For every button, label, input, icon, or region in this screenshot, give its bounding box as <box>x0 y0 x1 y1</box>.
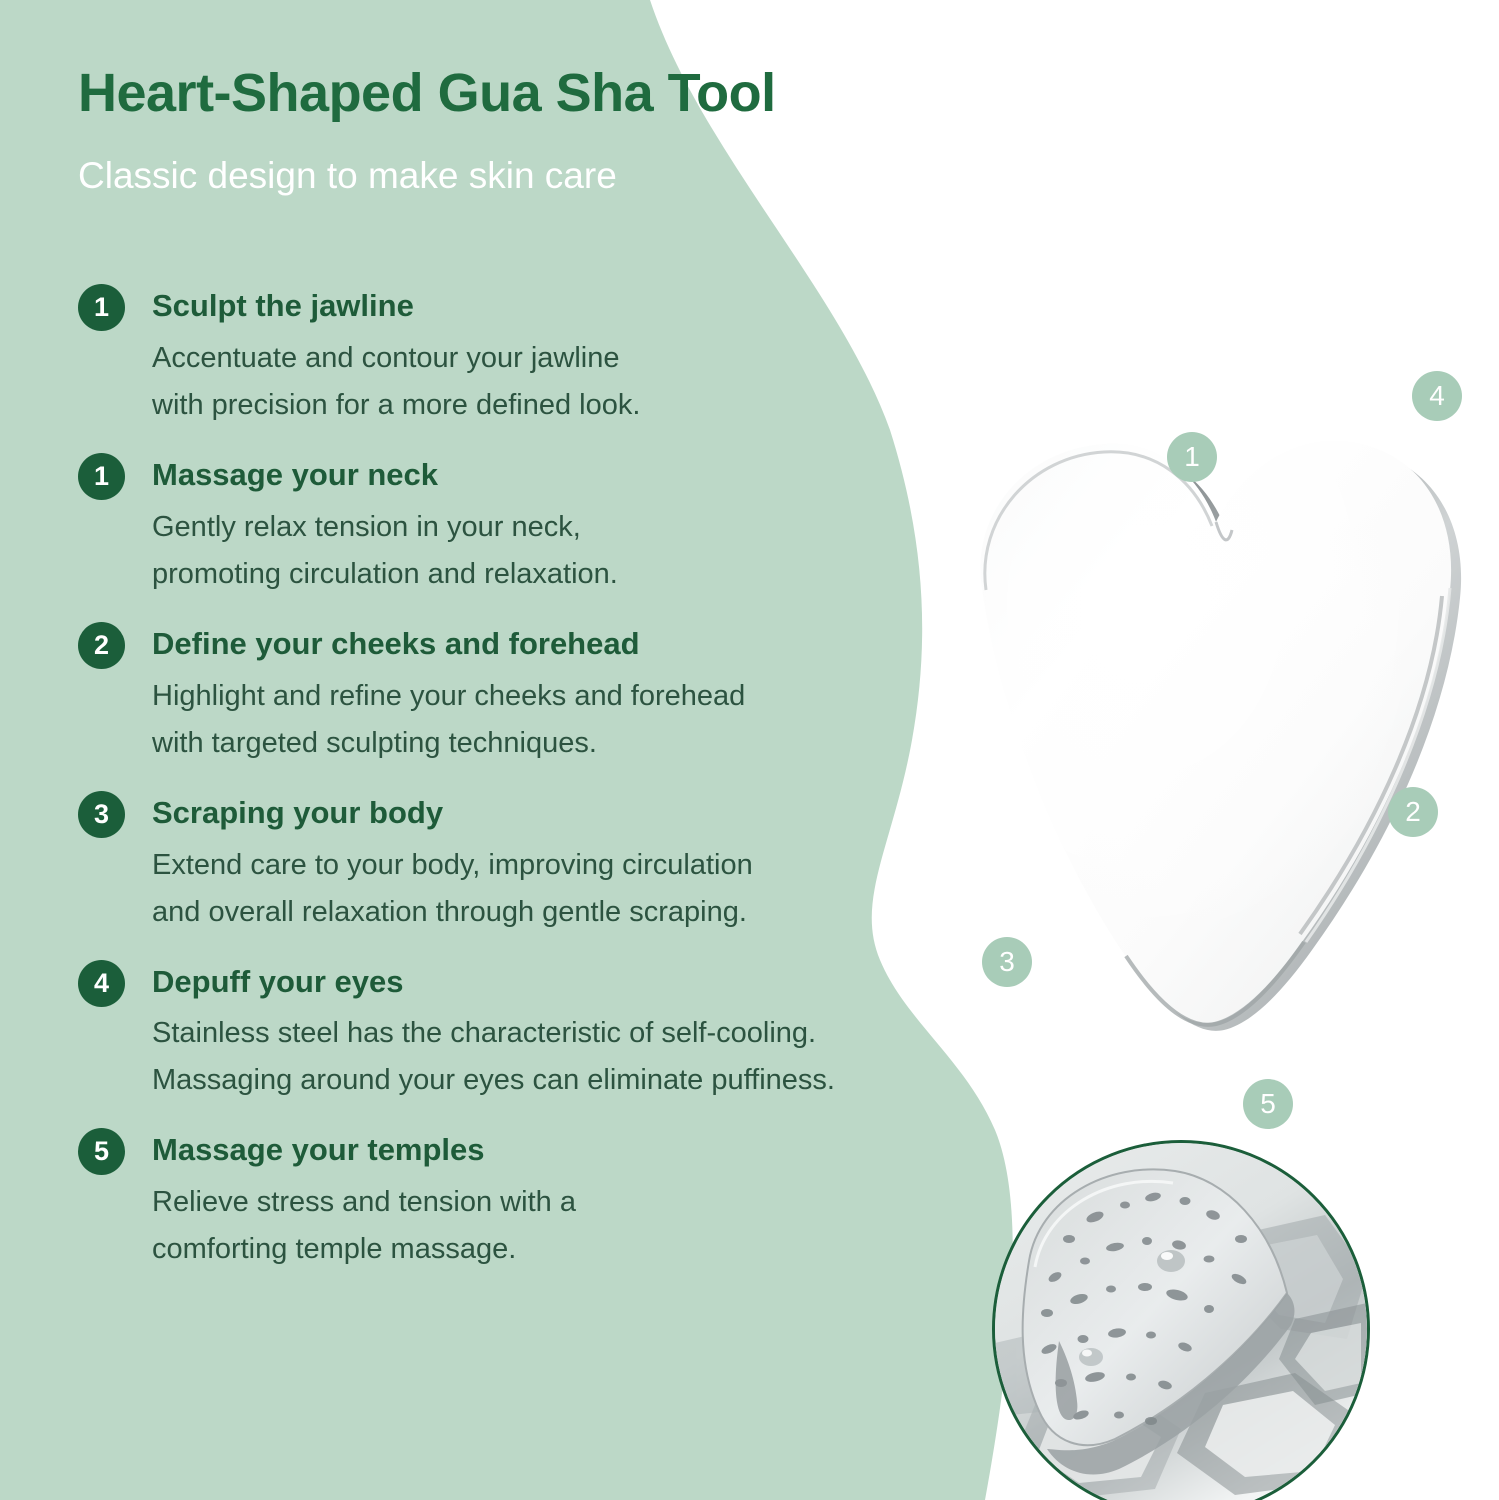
feature-heading: Depuff your eyes <box>152 958 970 1005</box>
feature-heading: Define your cheeks and forehead <box>152 620 970 667</box>
feature-body-line: Gently relax tension in your neck, <box>152 504 970 551</box>
feature-heading: Scraping your body <box>152 789 970 836</box>
feature-body: Accentuate and contour your jawline with… <box>152 329 970 429</box>
feature-body: Extend care to your body, improving circ… <box>152 836 970 936</box>
feature-item-3: 2 Define your cheeks and forehead Highli… <box>70 620 970 767</box>
ice-closeup-graphic <box>995 1143 1367 1500</box>
feature-list: 1 Sculpt the jawline Accentuate and cont… <box>70 282 970 1295</box>
feature-body-line: Extend care to your body, improving circ… <box>152 842 970 889</box>
feature-body-line: Accentuate and contour your jawline <box>152 335 970 382</box>
callout-marker-5[interactable]: 5 <box>1243 1079 1293 1129</box>
feature-body: Gently relax tension in your neck, promo… <box>152 498 970 598</box>
feature-body-line: comforting temple massage. <box>152 1226 970 1273</box>
feature-badge: 1 <box>78 453 125 500</box>
feature-item-2: 1 Massage your neck Gently relax tension… <box>70 451 970 598</box>
feature-body-line: and overall relaxation through gentle sc… <box>152 889 970 936</box>
page-title: Heart-Shaped Gua Sha Tool <box>78 62 776 124</box>
feature-badge: 1 <box>78 284 125 331</box>
feature-item-4: 3 Scraping your body Extend care to your… <box>70 789 970 936</box>
feature-body-line: Highlight and refine your cheeks and for… <box>152 673 970 720</box>
feature-badge: 4 <box>78 960 125 1007</box>
feature-badge: 5 <box>78 1128 125 1175</box>
callout-marker-1[interactable]: 1 <box>1167 432 1217 482</box>
page-subtitle: Classic design to make skin care <box>78 155 617 197</box>
feature-body-line: Massaging around your eyes can eliminate… <box>152 1057 970 1104</box>
feature-heading: Massage your temples <box>152 1126 970 1173</box>
feature-body-line: promoting circulation and relaxation. <box>152 551 970 598</box>
feature-item-1: 1 Sculpt the jawline Accentuate and cont… <box>70 282 970 429</box>
feature-body-line: Relieve stress and tension with a <box>152 1179 970 1226</box>
product-infographic: Heart-Shaped Gua Sha Tool Classic design… <box>0 0 1499 1500</box>
feature-badge: 3 <box>78 791 125 838</box>
callout-marker-3[interactable]: 3 <box>982 937 1032 987</box>
callout-marker-4[interactable]: 4 <box>1412 371 1462 421</box>
feature-badge: 2 <box>78 622 125 669</box>
feature-body-line: Stainless steel has the characteristic o… <box>152 1010 970 1057</box>
feature-body: Stainless steel has the characteristic o… <box>152 1004 970 1104</box>
ice-closeup-inset <box>992 1140 1370 1500</box>
feature-body: Relieve stress and tension with a comfor… <box>152 1173 970 1273</box>
callout-marker-2[interactable]: 2 <box>1388 787 1438 837</box>
text-column: Heart-Shaped Gua Sha Tool Classic design… <box>0 0 1000 1500</box>
feature-body: Highlight and refine your cheeks and for… <box>152 667 970 767</box>
feature-body-line: with precision for a more defined look. <box>152 382 970 429</box>
feature-item-5: 4 Depuff your eyes Stainless steel has t… <box>70 958 970 1105</box>
feature-heading: Sculpt the jawline <box>152 282 970 329</box>
feature-item-6: 5 Massage your temples Relieve stress an… <box>70 1126 970 1273</box>
feature-heading: Massage your neck <box>152 451 970 498</box>
feature-body-line: with targeted sculpting techniques. <box>152 720 970 767</box>
